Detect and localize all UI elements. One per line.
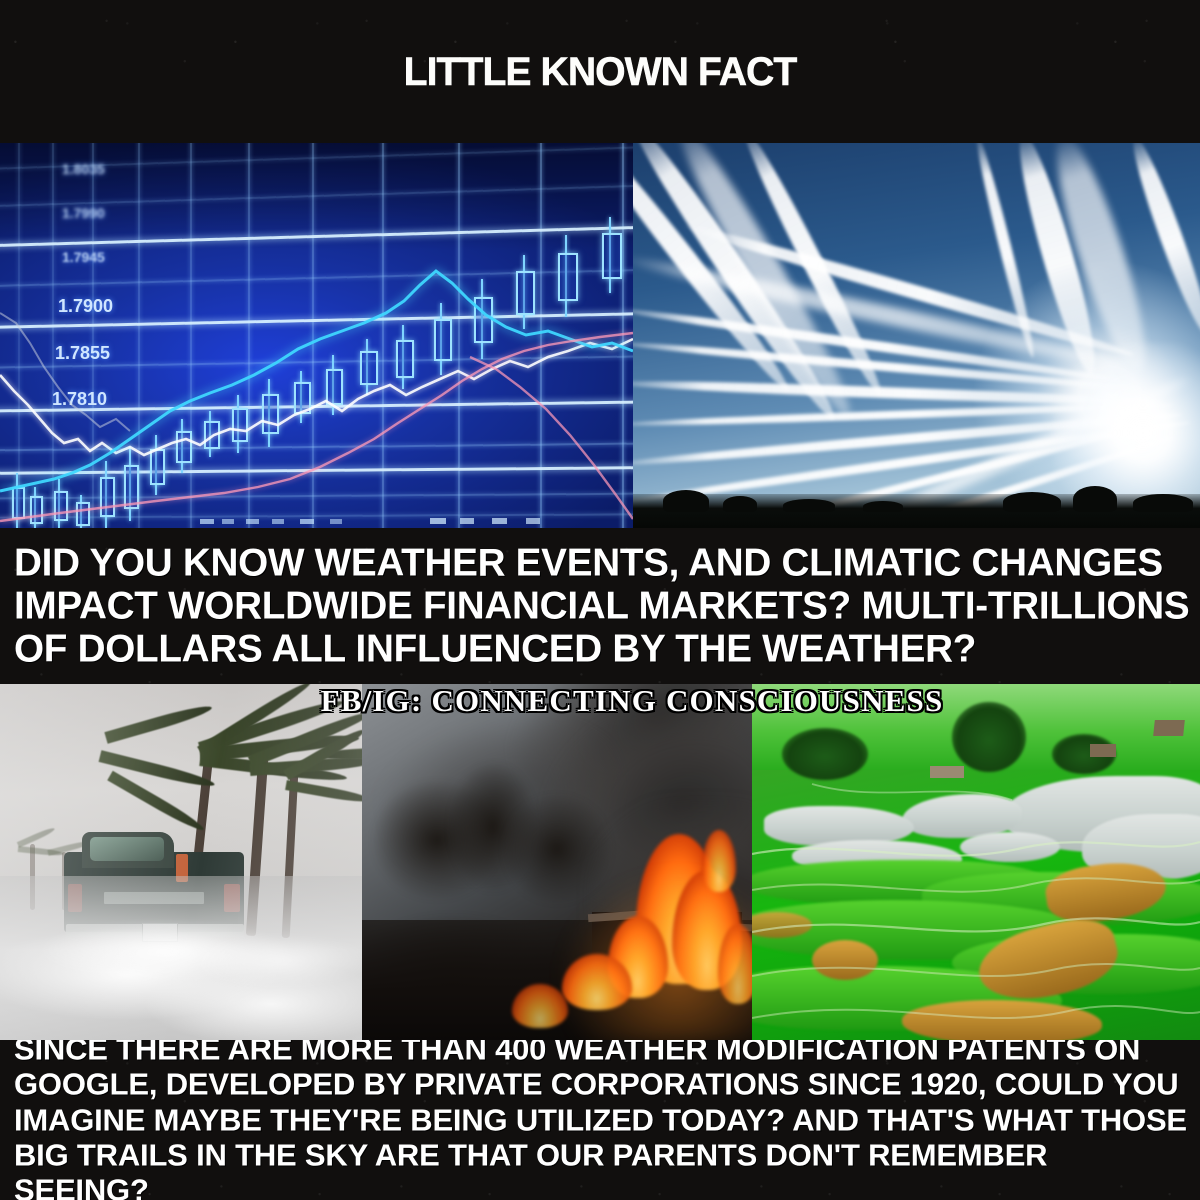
treeline-silhouette (1133, 494, 1193, 512)
middle-caption-text: DID YOU KNOW WEATHER EVENTS, AND CLIMATI… (14, 541, 1196, 670)
meme-image: LITTLE KNOWN FACT (0, 0, 1200, 1200)
rice-terraces-panel (752, 684, 1200, 1040)
chemtrail-sky-panel (633, 143, 1200, 528)
middle-caption-band: DID YOU KNOW WEATHER EVENTS, AND CLIMATI… (0, 528, 1200, 684)
treeline-silhouette (863, 501, 903, 512)
rain-haze (0, 684, 362, 1040)
top-image-row: 1.8035 1.7990 1.7945 1.7900 1.7855 1.781… (0, 143, 1200, 528)
bottom-image-row (0, 684, 1200, 1040)
hurricane-flood-panel (0, 684, 362, 1040)
treeline-silhouette (783, 499, 835, 512)
bottom-caption-band: SINCE THERE ARE MORE THAN 400 WEATHER MO… (0, 1040, 1200, 1200)
fire-glow (562, 874, 752, 1040)
wildfire-panel (362, 684, 752, 1040)
chart-volume-bars (0, 504, 633, 528)
bottom-caption-text: SINCE THERE ARE MORE THAN 400 WEATHER MO… (14, 1040, 1190, 1200)
page-title: LITTLE KNOWN FACT (12, 53, 1188, 91)
header-band: LITTLE KNOWN FACT (0, 0, 1200, 143)
pink-descending-line (470, 357, 633, 519)
cyan-indicator-line (0, 271, 633, 491)
white-ma-line (0, 339, 633, 455)
treeline-silhouette (723, 496, 757, 512)
grey-line (0, 313, 130, 431)
chart-line-overlays (0, 143, 633, 528)
forex-chart-panel: 1.8035 1.7990 1.7945 1.7900 1.7855 1.781… (0, 143, 633, 528)
treeline-silhouette (663, 490, 709, 512)
treeline-silhouette (1073, 486, 1117, 512)
terrace-contour-lines (752, 684, 1200, 1040)
treeline-silhouette (1003, 492, 1061, 512)
